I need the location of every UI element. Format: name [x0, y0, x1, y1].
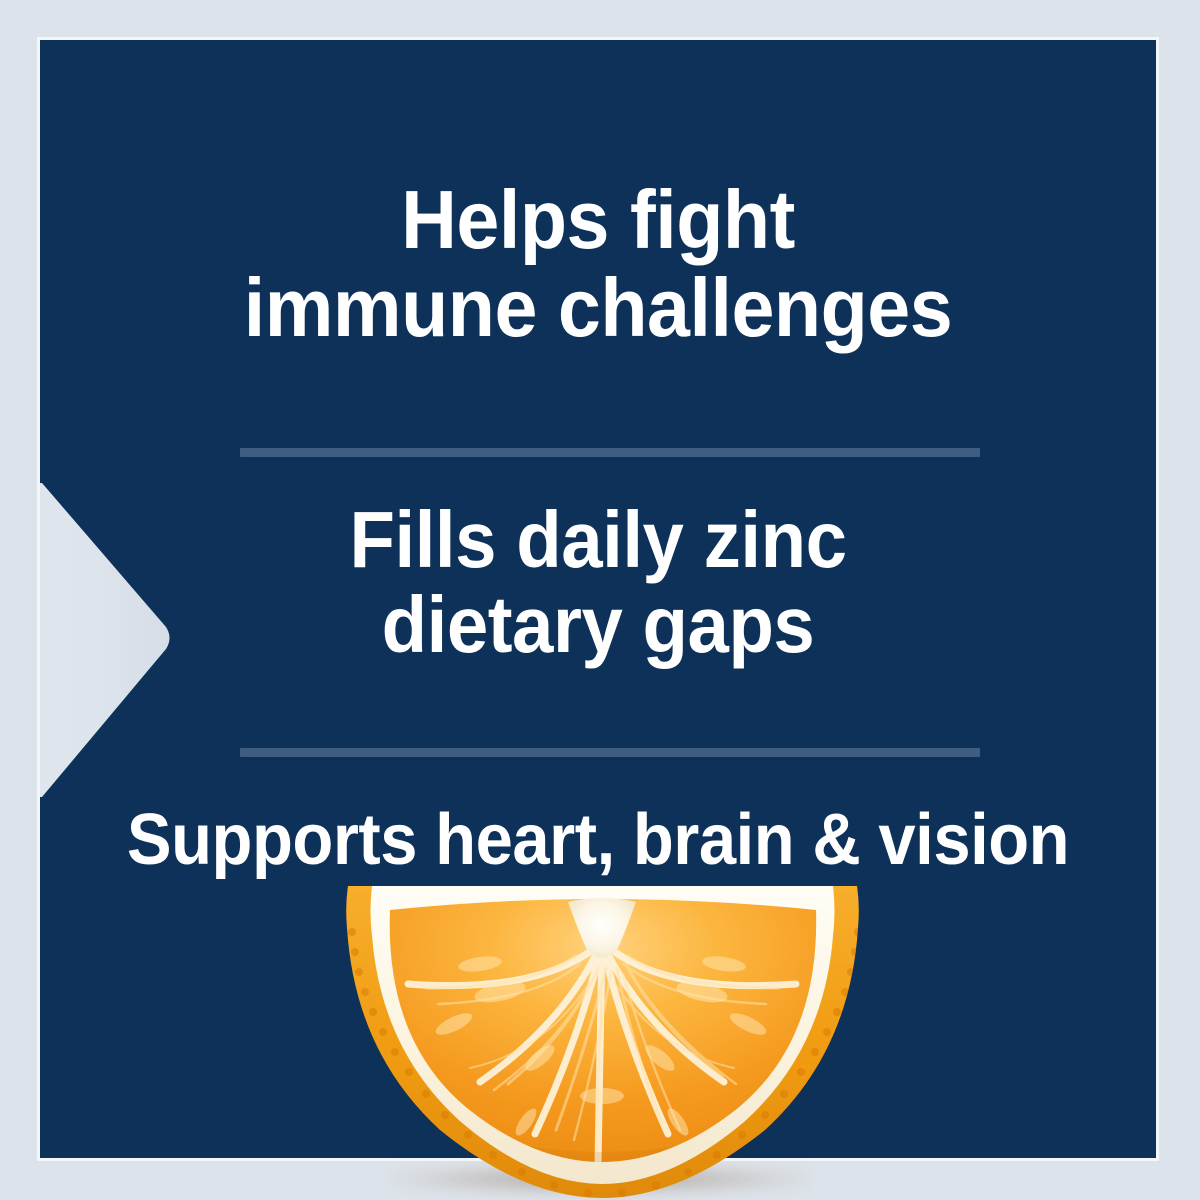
- benefit-text-support: Supports heart, brain & vision: [79, 802, 1117, 878]
- benefit-text-zinc: Fills daily zinc dietary gaps: [79, 498, 1117, 668]
- divider-2: [240, 748, 980, 757]
- poster-canvas: Helps fight immune challenges Fills dail…: [0, 0, 1200, 1200]
- orange-slice-illustration: [330, 872, 875, 1200]
- benefit-text-immune: Helps fight immune challenges: [79, 176, 1117, 352]
- divider-1: [240, 448, 980, 457]
- orange-slice-image: [330, 872, 875, 1200]
